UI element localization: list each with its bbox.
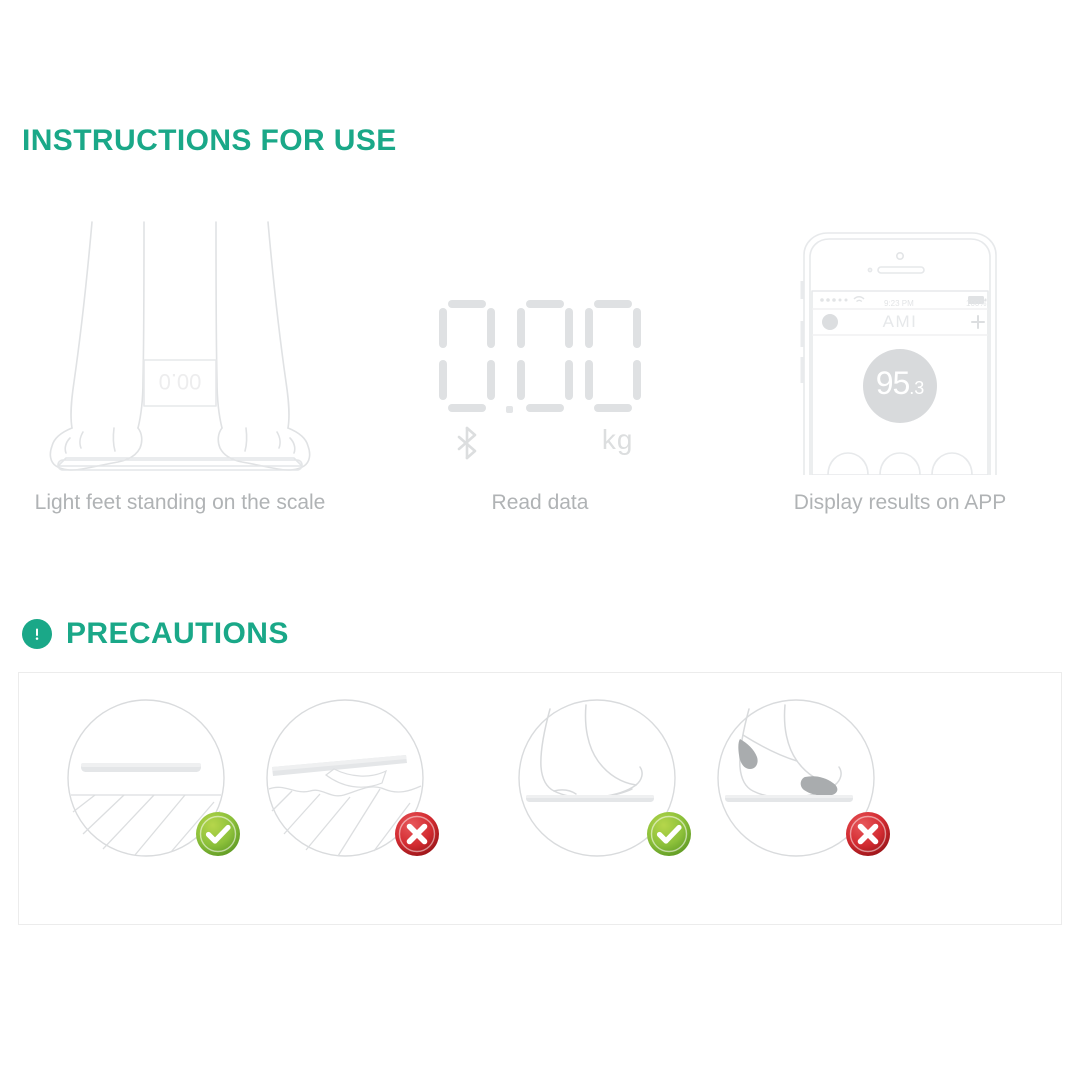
precaution-socks: [709, 691, 884, 866]
digital-display-art: kg: [433, 210, 648, 475]
phone-body-outline: [786, 225, 1014, 475]
seven-segment-digit-1: [439, 300, 495, 412]
instruction-step-display-app: 9:23 PM 100% AMI 95 .3 Display results o…: [720, 210, 1080, 540]
precautions-heading-label: PRECAUTIONS: [66, 617, 289, 651]
scale-slab: [725, 795, 853, 802]
segment-top-right: [633, 308, 641, 348]
app-avatar-icon: [822, 314, 838, 330]
bluetooth-icon: [455, 426, 479, 460]
display-sub-row: kg: [433, 424, 648, 469]
segment-bottom: [526, 404, 564, 412]
check-circle-icon: [645, 810, 693, 858]
segment-top-right: [487, 308, 495, 348]
segment-bottom-left: [517, 360, 525, 400]
seven-segment-digit-3: [585, 300, 641, 412]
precaution-bare-feet: [510, 691, 685, 866]
segment-top: [594, 300, 632, 308]
app-tabbar-icons: [828, 453, 972, 475]
check-circle-icon: [194, 810, 242, 858]
phone-art: 9:23 PM 100% AMI 95 .3: [786, 210, 1014, 475]
status-bar-signal-dots: [820, 298, 847, 302]
precaution-hard-floor: [59, 691, 234, 866]
feet-on-scale-art: 00.0: [40, 210, 320, 475]
segment-bottom-left: [585, 360, 593, 400]
segment-bottom: [594, 404, 632, 412]
instruction-step-caption: Light feet standing on the scale: [35, 491, 326, 515]
cross-circle-icon: [393, 810, 441, 858]
segment-bottom-right: [487, 360, 495, 400]
scale-slab: [526, 795, 654, 802]
precaution-soft-carpet: [258, 691, 433, 866]
segment-bottom-left: [439, 360, 447, 400]
segment-top-left: [585, 308, 593, 348]
instructions-section-heading: INSTRUCTIONS FOR USE: [22, 124, 397, 158]
status-bar-wifi-icon: [854, 297, 864, 302]
exclamation-circle-icon: [22, 619, 52, 649]
sock-shading: [738, 739, 837, 796]
svg-text:00.0: 00.0: [159, 369, 202, 394]
scale-slab-tilted: [272, 755, 407, 787]
instruction-step-caption: Read data: [492, 491, 589, 515]
segment-top-left: [517, 308, 525, 348]
seven-segment-digit-2: [517, 300, 573, 412]
segment-bottom-right: [633, 360, 641, 400]
instruction-step-read-data: kg Read data: [360, 210, 720, 540]
seven-segment-display: kg: [433, 300, 648, 475]
app-add-icon: [972, 316, 984, 328]
instruction-step-standing: 00.0 Light feet standing on the scale: [0, 210, 360, 540]
smartphone-app-illustration: 9:23 PM 100% AMI 95 .3: [786, 225, 1014, 475]
instructions-heading-label: INSTRUCTIONS FOR USE: [22, 124, 397, 158]
status-bar-battery-icon: [968, 296, 987, 304]
scale-slab: [81, 763, 201, 772]
instruction-step-caption: Display results on APP: [794, 491, 1006, 515]
precautions-items-row: [59, 691, 979, 871]
unit-label: kg: [602, 424, 634, 456]
segment-top: [526, 300, 564, 308]
segment-bottom-right: [565, 360, 573, 400]
instruction-steps-row: 00.0 Light feet standing on the scale: [0, 210, 1080, 540]
decimal-point: [506, 406, 513, 413]
precautions-panel: [18, 672, 1062, 925]
segment-top-left: [439, 308, 447, 348]
segment-top: [448, 300, 486, 308]
segment-top-right: [565, 308, 573, 348]
feet-on-scale-illustration: 00.0: [40, 210, 320, 475]
precautions-section-heading: PRECAUTIONS: [22, 617, 289, 651]
segment-bottom: [448, 404, 486, 412]
scale-display-faint-digits: 00.0: [159, 369, 202, 394]
cross-circle-icon: [844, 810, 892, 858]
